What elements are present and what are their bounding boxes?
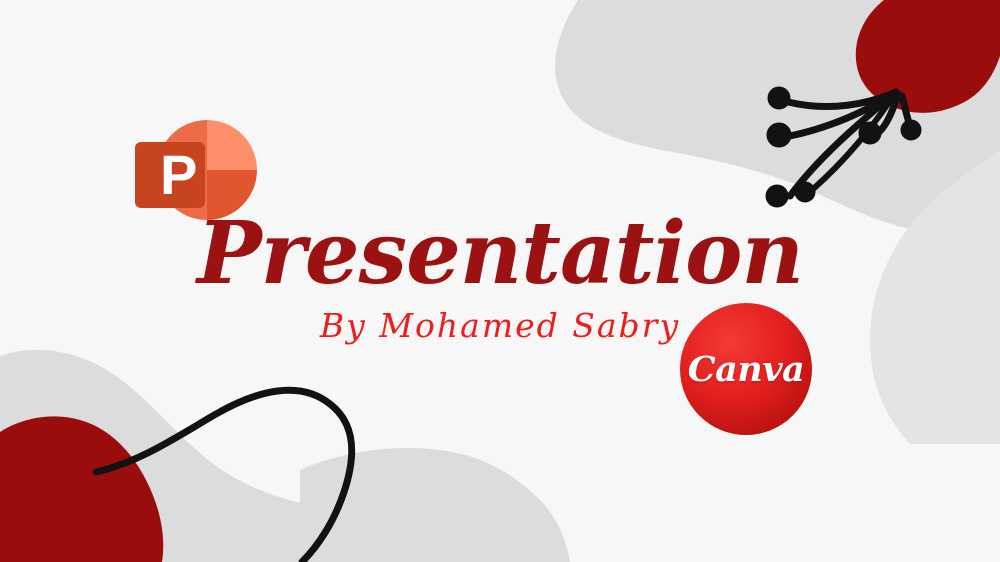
presentation-slide: P Canva Presentation By Mohamed Sabry (0, 0, 1000, 562)
slide-subtitle-author: By Mohamed Sabry (0, 302, 1000, 346)
slide-title: Presentation (0, 206, 1000, 302)
ppt-circle-top-right (207, 120, 257, 170)
title-block: Presentation By Mohamed Sabry (0, 206, 1000, 346)
ppt-letter-p: P (160, 143, 197, 206)
